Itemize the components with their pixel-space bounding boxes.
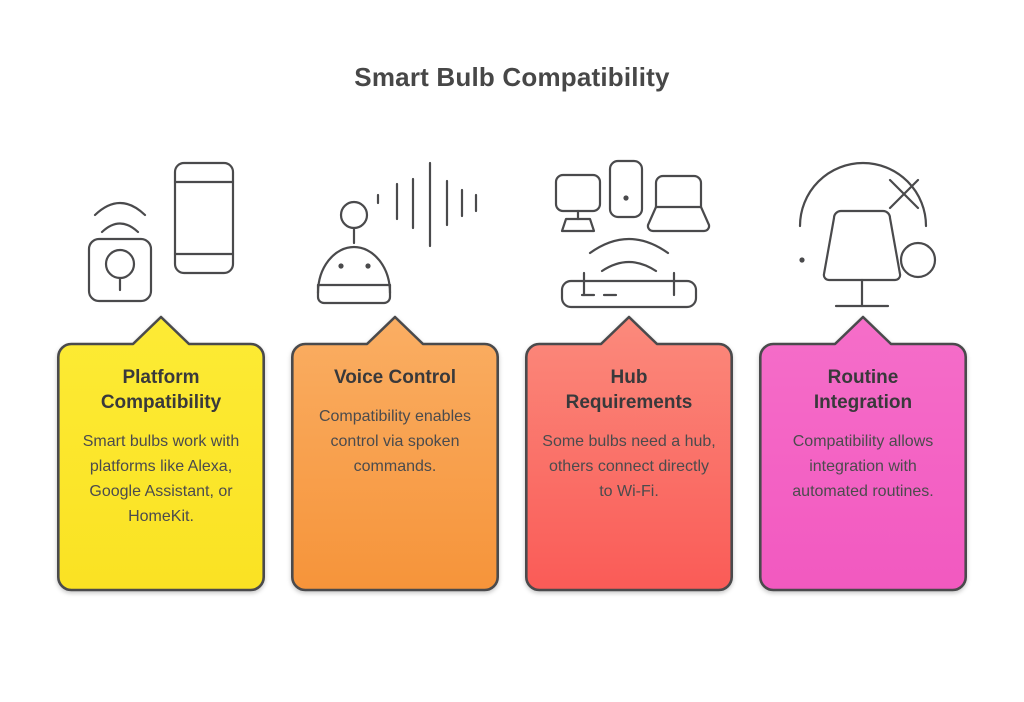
card-voice-control[interactable]: Voice Control Compatibility enables cont… bbox=[291, 315, 499, 592]
card-column-hub-requirements: Hub Requirements Some bulbs need a hub, … bbox=[525, 150, 733, 592]
icon-devices-router bbox=[525, 150, 733, 315]
card-content: Voice Control Compatibility enables cont… bbox=[291, 343, 499, 592]
card-heading: Routine Integration bbox=[775, 365, 951, 415]
card-hub-requirements[interactable]: Hub Requirements Some bulbs need a hub, … bbox=[525, 315, 733, 592]
page-title: Smart Bulb Compatibility bbox=[0, 62, 1024, 93]
card-content: Routine Integration Compatibility allows… bbox=[759, 343, 967, 592]
card-heading: Platform Compatibility bbox=[73, 365, 249, 415]
card-heading: Hub Requirements bbox=[541, 365, 717, 415]
card-content: Platform Compatibility Smart bulbs work … bbox=[57, 343, 265, 592]
card-body: Smart bulbs work with platforms like Ale… bbox=[73, 429, 249, 529]
icon-smart-plug-phone-wifi bbox=[57, 150, 265, 315]
icon-lamp-schedule bbox=[759, 150, 967, 315]
card-body: Compatibility enables control via spoken… bbox=[307, 404, 483, 479]
cards-row: Platform Compatibility Smart bulbs work … bbox=[0, 150, 1024, 592]
devices-router-icon bbox=[544, 153, 714, 313]
card-column-routine-integration: Routine Integration Compatibility allows… bbox=[759, 150, 967, 592]
card-body: Compatibility allows integration with au… bbox=[775, 429, 951, 504]
card-platform-compatibility[interactable]: Platform Compatibility Smart bulbs work … bbox=[57, 315, 265, 592]
smart-plug-phone-wifi-icon bbox=[71, 153, 251, 313]
card-column-voice-control: Voice Control Compatibility enables cont… bbox=[291, 150, 499, 592]
icon-voice-assistant-robot bbox=[291, 150, 499, 315]
card-body: Some bulbs need a hub, others connect di… bbox=[541, 429, 717, 504]
card-routine-integration[interactable]: Routine Integration Compatibility allows… bbox=[759, 315, 967, 592]
lamp-schedule-icon bbox=[778, 150, 948, 315]
card-column-platform-compatibility: Platform Compatibility Smart bulbs work … bbox=[57, 150, 265, 592]
voice-assistant-robot-icon bbox=[310, 153, 480, 313]
card-heading: Voice Control bbox=[307, 365, 483, 390]
card-content: Hub Requirements Some bulbs need a hub, … bbox=[525, 343, 733, 592]
